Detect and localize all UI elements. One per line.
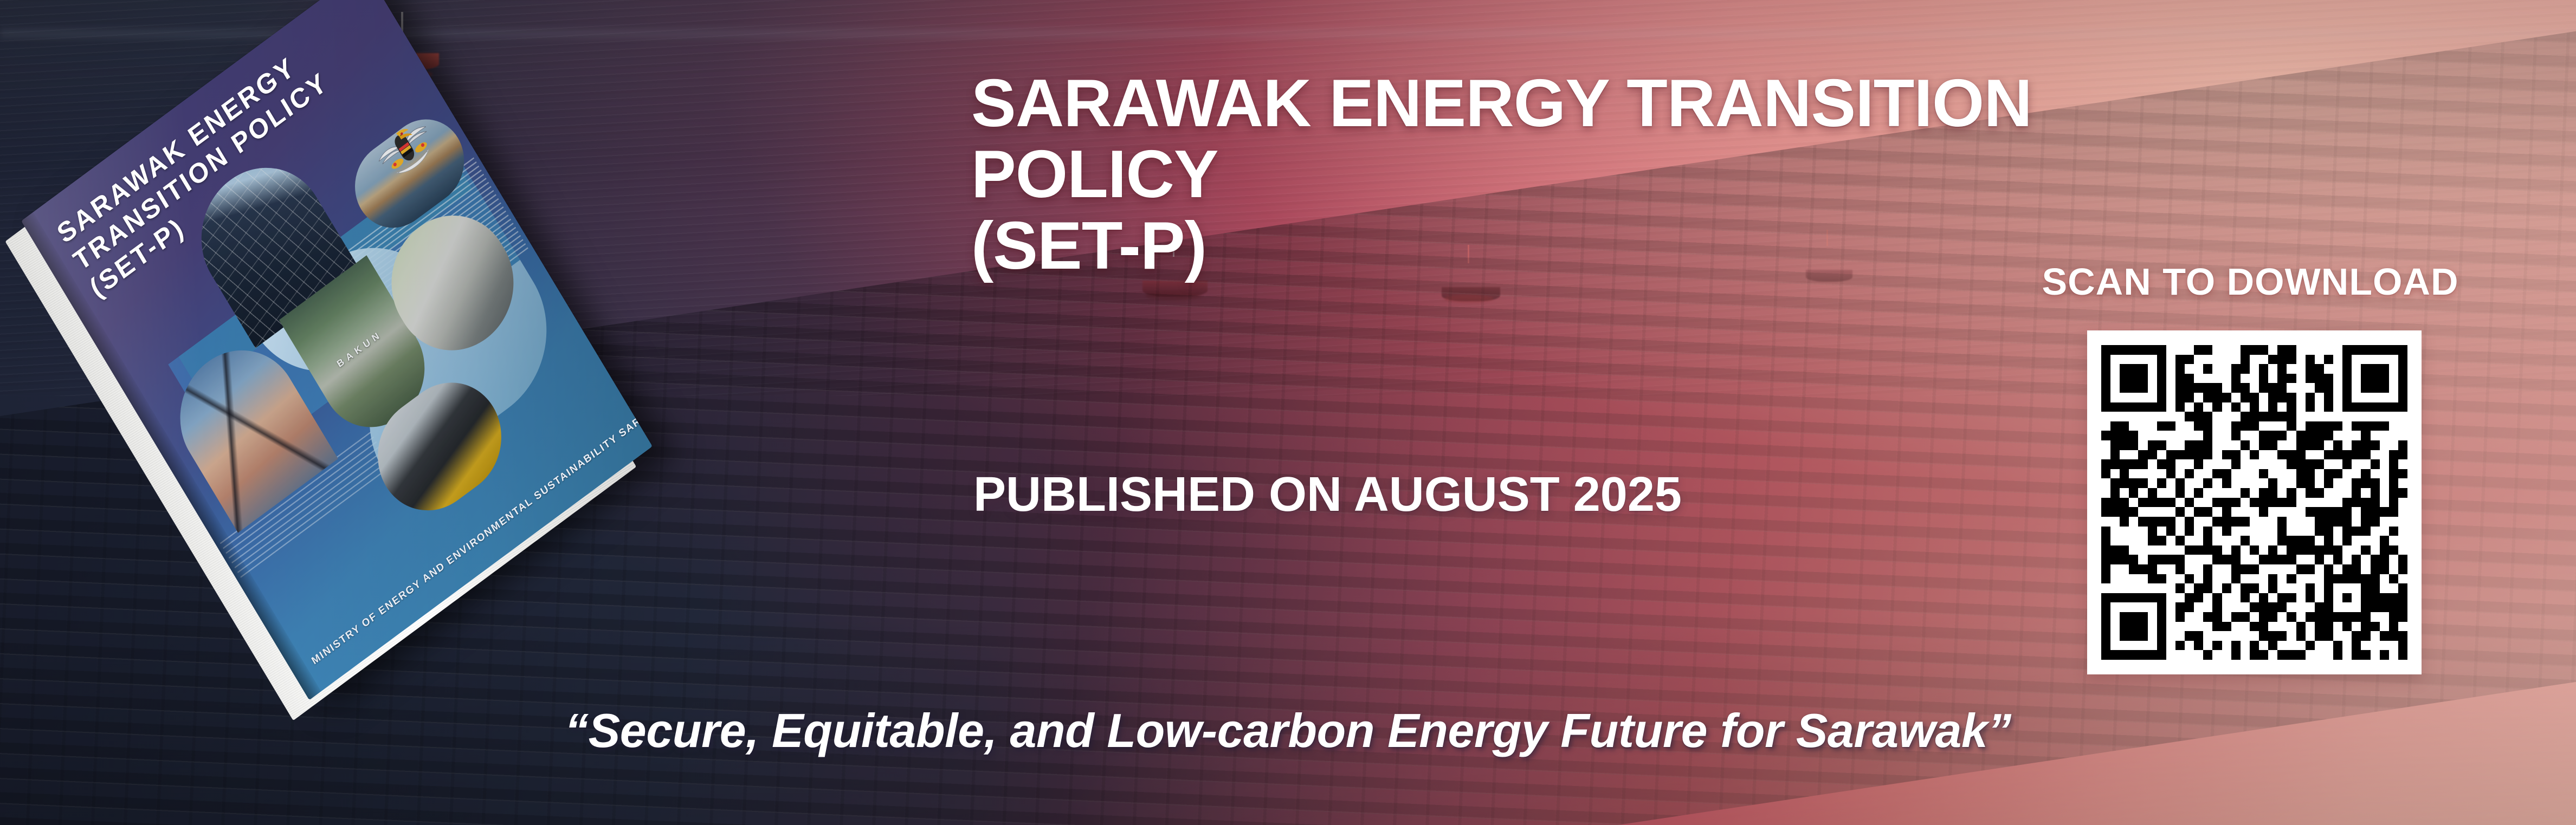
published-date: PUBLISHED ON AUGUST 2025	[973, 467, 1682, 523]
qr-code-card[interactable]	[2087, 330, 2422, 674]
qr-code[interactable]	[2101, 345, 2407, 660]
set-p-promo-banner: BAKUN	[0, 0, 2576, 825]
book-mockup: BAKUN	[48, 50, 861, 689]
book-cover: BAKUN	[21, 0, 653, 700]
banner-tagline: “Secure, Equitable, and Low-carbon Energ…	[0, 703, 2576, 758]
banner-headline: SARAWAK ENERGY TRANSITION POLICY (SET-P)	[971, 68, 2055, 282]
scan-to-download-label: SCAN TO DOWNLOAD	[2028, 260, 2472, 303]
